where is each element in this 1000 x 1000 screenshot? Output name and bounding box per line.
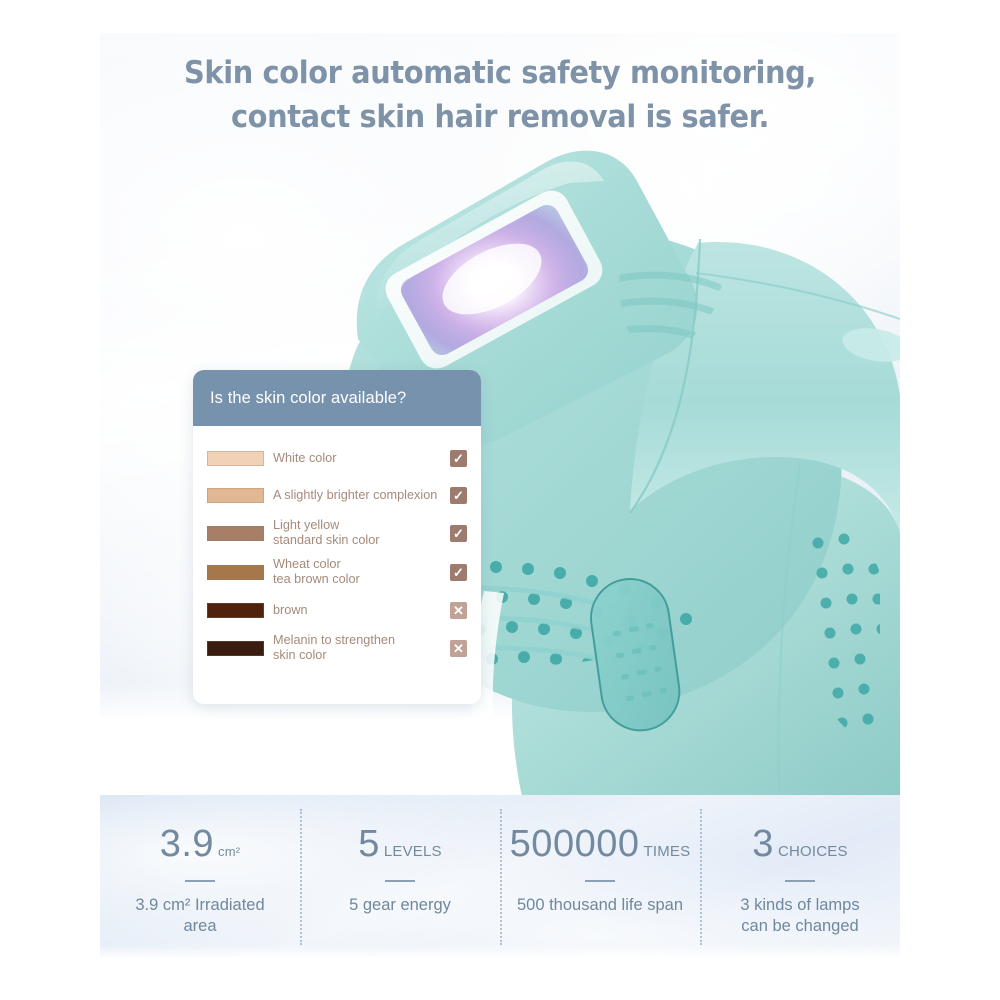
stat-unit: LEVELS [384, 843, 442, 860]
skin-label-line1: White color [273, 451, 336, 465]
stat-desc-line1: 500 thousand life span [517, 896, 683, 914]
stat-description: 5 gear energy [306, 895, 494, 916]
skin-color-list: White color ✓ A slightly brighter comple… [193, 426, 481, 704]
skin-label-line2: tea brown color [273, 572, 444, 587]
list-item[interactable]: Wheat color tea brown color ✓ [207, 557, 467, 587]
stat-headline: 500000TIMES [506, 825, 694, 863]
skin-label: White color [273, 451, 444, 466]
stat-lamp-choices: 3CHOICES 3 kinds of lamps can be changed [700, 795, 900, 961]
skin-label: brown [273, 603, 444, 618]
list-item[interactable]: A slightly brighter complexion ✓ [207, 481, 467, 509]
stat-headline: 5LEVELS [306, 825, 494, 863]
skin-label: Melanin to strengthen skin color [273, 633, 444, 663]
stat-desc-line2: area [106, 916, 294, 937]
skin-label-line2: standard skin color [273, 533, 444, 548]
stat-unit: cm² [218, 844, 240, 859]
spec-stats-bar: 3.9cm² 3.9 cm² Irradiated area 5LEVELS 5… [100, 795, 900, 961]
skin-label-line1: A slightly brighter complexion [273, 488, 437, 502]
skin-swatch [207, 641, 264, 656]
skin-label: Light yellow standard skin color [273, 518, 444, 548]
stat-description: 3.9 cm² Irradiated area [106, 895, 294, 937]
stat-desc-line1: 3.9 cm² Irradiated [135, 896, 264, 914]
skin-swatch [207, 603, 264, 618]
skin-swatch [207, 565, 264, 580]
status-badge-check: ✓ [450, 487, 467, 504]
stat-unit: TIMES [643, 843, 690, 860]
status-badge-check: ✓ [450, 525, 467, 542]
product-marketing-image: Is the skin color available? White color… [0, 0, 1000, 1000]
stat-number: 500000 [510, 823, 640, 865]
list-item[interactable]: White color ✓ [207, 444, 467, 472]
skin-label-line1: Wheat color [273, 557, 341, 571]
stat-number: 3.9 [160, 823, 214, 865]
skin-label-line1: Melanin to strengthen [273, 633, 395, 647]
skin-color-availability-card: Is the skin color available? White color… [193, 370, 481, 704]
stat-description: 3 kinds of lamps can be changed [706, 895, 894, 937]
page-title: Skin color automatic safety monitoring, … [128, 51, 872, 139]
stat-headline: 3CHOICES [706, 825, 894, 863]
list-item[interactable]: brown ✕ [207, 596, 467, 624]
status-badge-check: ✓ [450, 450, 467, 467]
content-panel: Is the skin color available? White color… [100, 33, 900, 961]
skin-swatch [207, 526, 264, 541]
skin-swatch [207, 451, 264, 466]
stat-desc-line2: can be changed [706, 916, 894, 937]
status-badge-check: ✓ [450, 564, 467, 581]
skin-label-line1: brown [273, 603, 308, 617]
status-badge-cross: ✕ [450, 640, 467, 657]
skin-label-line1: Light yellow [273, 518, 339, 532]
status-badge-cross: ✕ [450, 602, 467, 619]
card-title: Is the skin color available? [193, 370, 481, 426]
stat-divider-rule [585, 880, 615, 882]
skin-swatch [207, 488, 264, 503]
stat-divider-rule [785, 880, 815, 882]
list-item[interactable]: Light yellow standard skin color ✓ [207, 518, 467, 548]
stat-divider-rule [385, 880, 415, 882]
list-item[interactable]: Melanin to strengthen skin color ✕ [207, 633, 467, 663]
stat-desc-line1: 5 gear energy [349, 896, 451, 914]
stat-energy-levels: 5LEVELS 5 gear energy [300, 795, 500, 961]
stat-description: 500 thousand life span [506, 895, 694, 916]
stat-unit: CHOICES [778, 843, 848, 860]
stat-divider-rule [185, 880, 215, 882]
stat-headline: 3.9cm² [106, 825, 294, 863]
skin-label-line2: skin color [273, 648, 444, 663]
stat-number: 5 [358, 823, 380, 865]
stat-desc-line1: 3 kinds of lamps [740, 896, 859, 914]
skin-label: A slightly brighter complexion [273, 488, 444, 503]
headline-line-1: Skin color automatic safety monitoring, [128, 51, 872, 95]
stat-number: 3 [752, 823, 774, 865]
headline-line-2: contact skin hair removal is safer. [128, 95, 872, 139]
stat-irradiated-area: 3.9cm² 3.9 cm² Irradiated area [100, 795, 300, 961]
skin-label: Wheat color tea brown color [273, 557, 444, 587]
stat-flash-count: 500000TIMES 500 thousand life span [500, 795, 700, 961]
